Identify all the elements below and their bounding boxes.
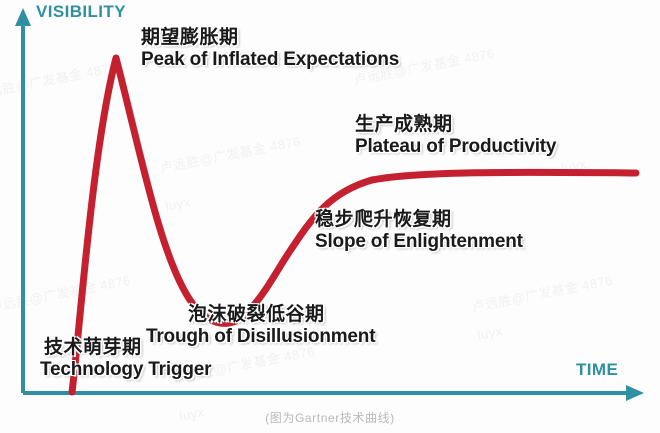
hype-cycle-figure: 卢远胜@广发基金 4876 卢远胜@广发基金 4876 卢远胜@广发基金 487…	[0, 0, 660, 433]
figure-caption: (图为Gartner技术曲线)	[0, 409, 660, 426]
label-peak-of-inflated-expectations: 期望膨胀期 Peak of Inflated Expectations	[141, 27, 399, 71]
label-peak-cn: 期望膨胀期	[141, 27, 399, 49]
x-axis-title: TIME	[576, 360, 618, 380]
label-slope-of-enlightenment: 稳步爬升恢复期 Slope of Enlightenment	[315, 209, 523, 253]
label-plateau-en: Plateau of Productivity	[355, 136, 556, 157]
label-slope-cn: 稳步爬升恢复期	[315, 209, 523, 231]
label-trigger-cn: 技术萌芽期	[44, 337, 211, 359]
y-axis	[15, 8, 31, 393]
x-axis	[23, 385, 644, 401]
label-slope-en: Slope of Enlightenment	[315, 231, 523, 252]
label-plateau-cn: 生产成熟期	[355, 114, 556, 136]
label-technology-trigger: 技术萌芽期 Technology Trigger	[44, 337, 211, 381]
label-trough-cn: 泡沫破裂低谷期	[188, 304, 375, 326]
label-trigger-en: Technology Trigger	[40, 359, 211, 380]
label-trough-of-disillusionment: 泡沫破裂低谷期 Trough of Disillusionment	[188, 304, 375, 348]
label-peak-en: Peak of Inflated Expectations	[141, 49, 399, 70]
y-axis-title: VISIBILITY	[36, 2, 126, 22]
label-plateau-of-productivity: 生产成熟期 Plateau of Productivity	[355, 114, 556, 158]
